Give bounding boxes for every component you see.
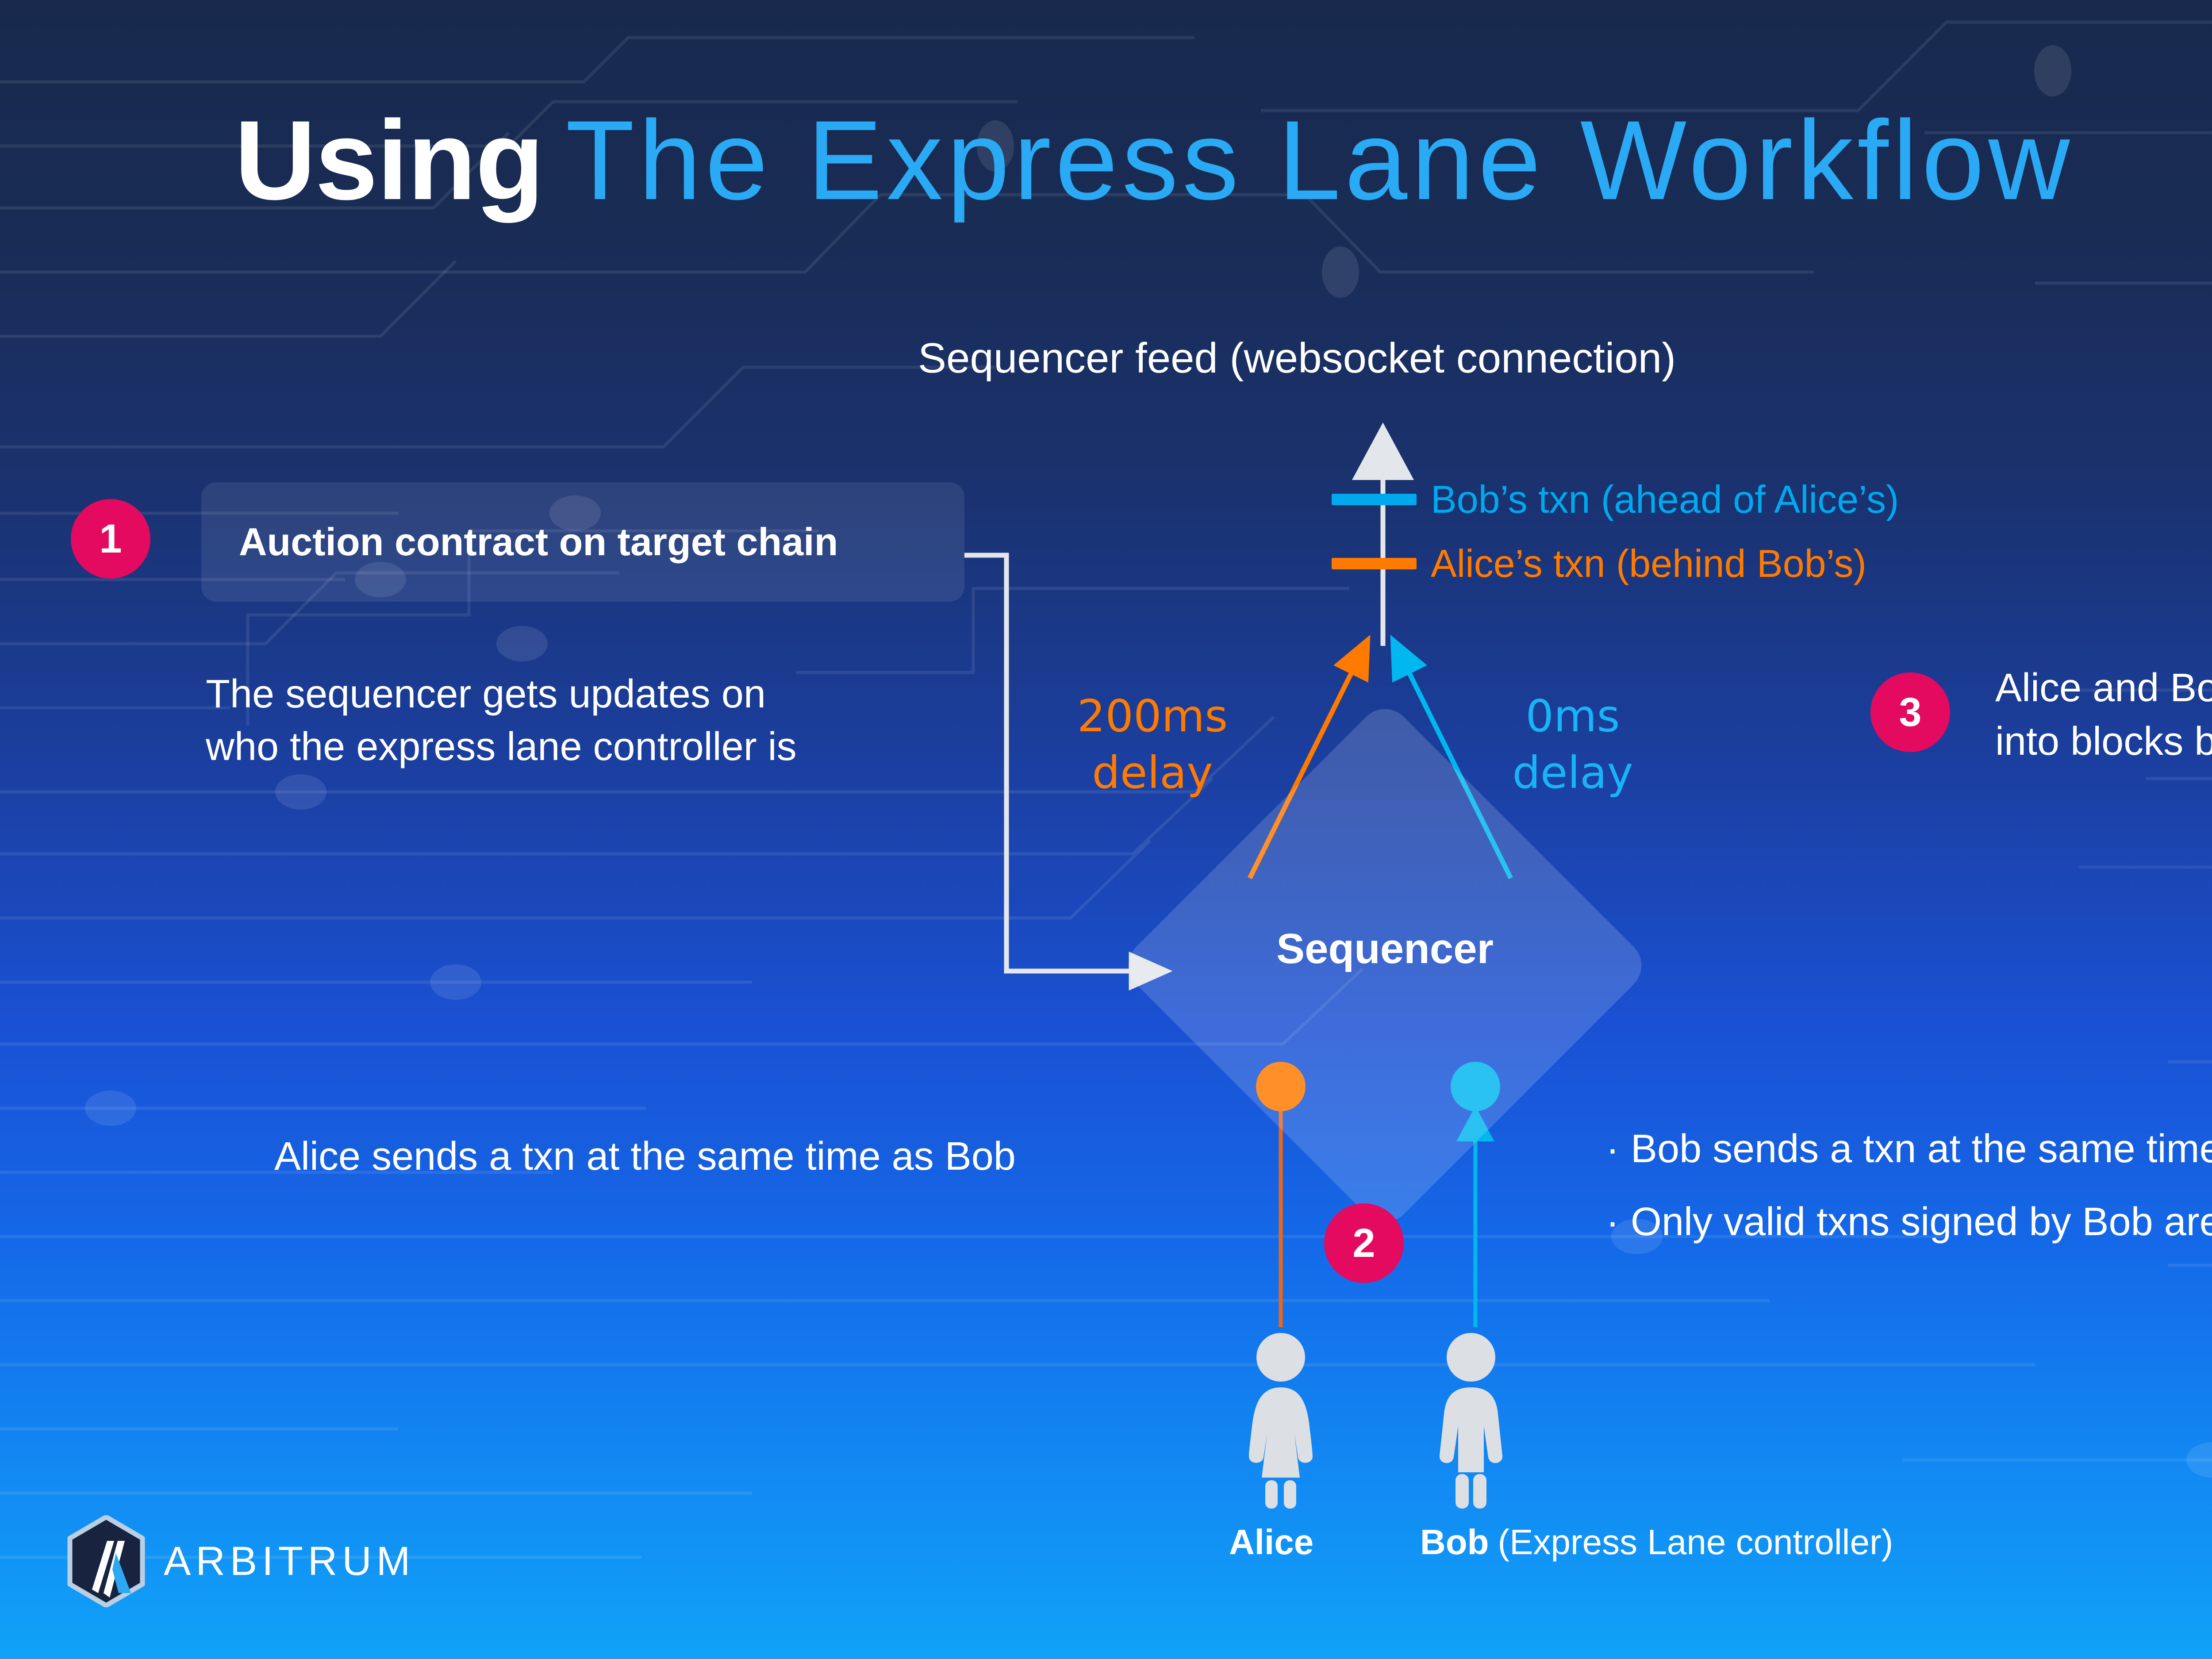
step3-line-2: into blocks based on timestamp [1995, 715, 2212, 768]
legend-item-alice-txn: Alice’s txn (behind Bob’s) [1332, 544, 1866, 583]
bob-name-label: Bob(Express Lane controller) [1420, 1522, 1893, 1563]
legend-label-bob: Bob’s txn (ahead of Alice’s) [1431, 480, 1899, 519]
bob-delay-value: 0ms [1480, 688, 1666, 745]
male-person-icon [1425, 1332, 1517, 1509]
alice-delay-unit: delay [1060, 745, 1245, 801]
legend-tick-alice [1332, 558, 1417, 569]
page-title: Using The Express Lane Workflow [234, 104, 2074, 217]
auction-contract-box[interactable]: Auction contract on target chain [201, 482, 964, 602]
step-badge-1: 1 [71, 499, 150, 579]
sequencer-feed-axis [1352, 422, 1414, 646]
sequencer-node-label: Sequencer [1196, 925, 1574, 973]
infographic-canvas: Using The Express Lane Workflow Sequence… [0, 0, 2212, 1659]
title-light-words: The Express Lane Workflow [565, 104, 2074, 217]
bob-bullet-list: · Bob sends a txn at the same time as Al… [1606, 1129, 2212, 1275]
list-item: · Only valid txns signed by Bob are acce… [1606, 1202, 2212, 1242]
sequencer-updates-paragraph: The sequencer gets updates on who the ex… [206, 668, 1046, 773]
bullet-text: Bob sends a txn at the same time as Alic… [1631, 1129, 2212, 1169]
alice-sends-paragraph: Alice sends a txn at the same time as Bo… [274, 1130, 1248, 1183]
arbitrum-logo: ARBITRUM [66, 1515, 415, 1607]
auction-contract-label: Auction contract on target chain [201, 519, 838, 565]
circuit-background-pattern [0, 0, 2212, 1659]
legend-label-alice: Alice’s txn (behind Bob’s) [1431, 544, 1866, 583]
bob-avatar [1425, 1332, 1517, 1511]
step3-paragraph: Alice and Bob's txns get ordered into bl… [1995, 661, 2212, 768]
step-badge-2: 2 [1324, 1203, 1404, 1283]
step-badge-3: 3 [1870, 672, 1950, 752]
bullet-text: Only valid txns signed by Bob are accept… [1631, 1202, 2212, 1242]
female-person-icon [1234, 1332, 1327, 1509]
bob-delay-label: 0ms delay [1480, 688, 1666, 801]
bob-delay-unit: delay [1480, 745, 1666, 801]
bullet-marker-icon: · [1606, 1202, 1619, 1242]
alice-delay-label: 200ms delay [1060, 688, 1245, 801]
step3-line-1: Alice and Bob's txns get ordered [1995, 661, 2212, 715]
alice-name-label: Alice [1229, 1522, 1313, 1563]
bullet-marker-icon: · [1606, 1129, 1619, 1169]
sequencer-feed-label: Sequencer feed (websocket connection) [918, 334, 1676, 383]
list-item: · Bob sends a txn at the same time as Al… [1606, 1129, 2212, 1169]
title-bold-word: Using [234, 104, 543, 217]
arbitrum-mark-icon [66, 1515, 146, 1607]
bob-name-text: Bob [1420, 1522, 1489, 1562]
sequencer-updates-line-1: The sequencer gets updates on [206, 668, 1046, 721]
alice-avatar [1234, 1332, 1327, 1511]
sequencer-updates-line-2: who the express lane controller is [206, 721, 1046, 773]
alice-delay-value: 200ms [1060, 688, 1245, 745]
arbitrum-wordmark: ARBITRUM [164, 1538, 415, 1585]
legend-item-bob-txn: Bob’s txn (ahead of Alice’s) [1332, 480, 1899, 519]
diagram-vectors [0, 0, 2212, 1659]
legend-tick-bob [1332, 494, 1417, 505]
bob-role-text: (Express Lane controller) [1498, 1522, 1893, 1562]
